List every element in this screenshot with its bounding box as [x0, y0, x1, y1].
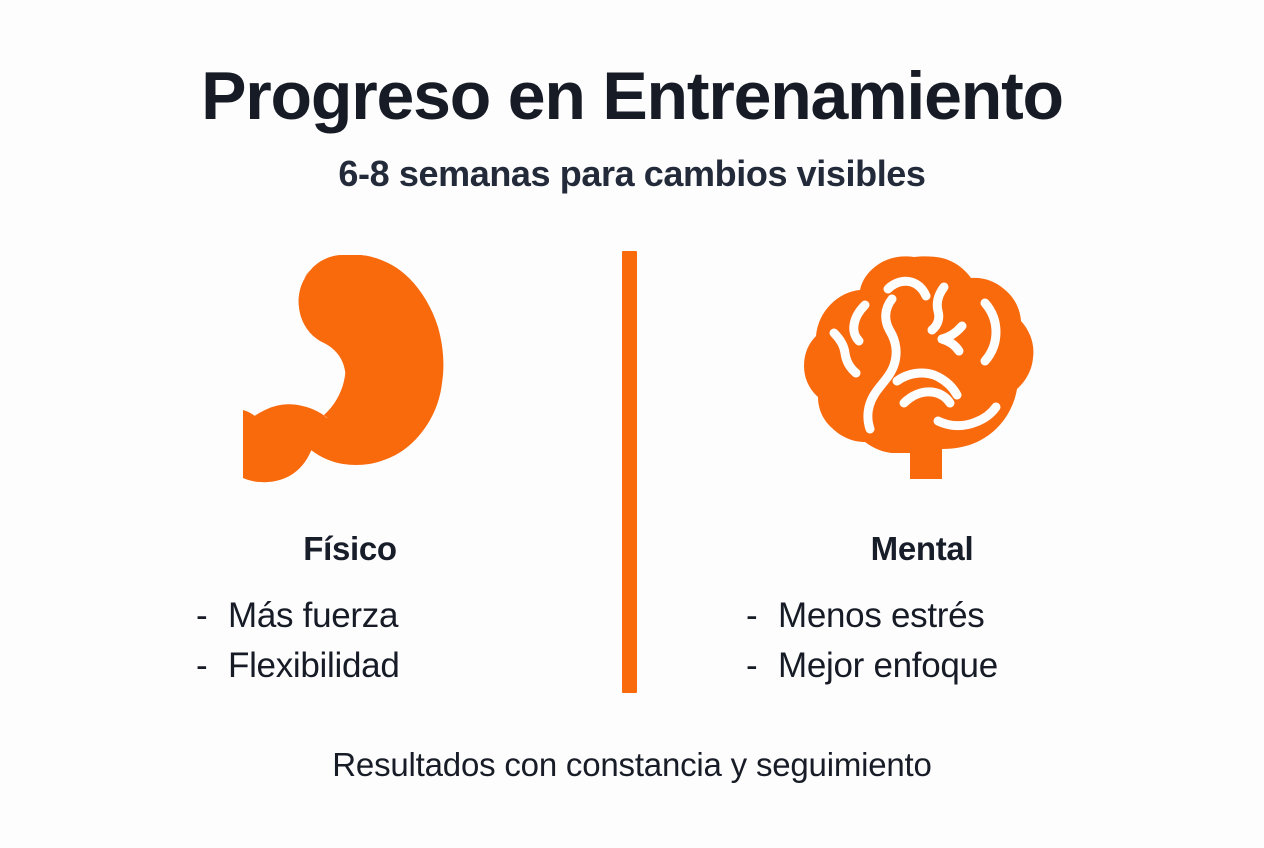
footer-caption: Resultados con constancia y seguimiento [0, 748, 1264, 781]
list-item-label: Menos estrés [778, 591, 985, 641]
list-item-label: Flexibilidad [228, 641, 400, 691]
page-subtitle: 6-8 semanas para cambios visibles [0, 156, 1264, 192]
infographic-canvas: Progreso en Entrenamiento 6-8 semanas pa… [0, 0, 1264, 848]
list-item: - Flexibilidad [196, 641, 610, 691]
column-mental: Mental - Menos estrés - Mejor enfoque [662, 248, 1182, 698]
list-item-label: Mejor enfoque [778, 641, 998, 691]
list-item-label: Más fuerza [228, 591, 398, 641]
column-fisico: Físico - Más fuerza - Flexibilidad [90, 248, 610, 698]
benefit-list-mental: - Menos estrés - Mejor enfoque [662, 591, 1182, 690]
bullet-dash: - [746, 641, 778, 691]
brain-icon [662, 248, 1182, 488]
bullet-dash: - [746, 591, 778, 641]
list-item: - Más fuerza [196, 591, 610, 641]
benefit-list-fisico: - Más fuerza - Flexibilidad [90, 591, 610, 690]
list-item: - Menos estrés [746, 591, 1182, 641]
footer: Resultados con constancia y seguimiento [0, 748, 1264, 781]
vertical-divider [622, 251, 637, 693]
column-heading-fisico: Físico [90, 532, 610, 565]
list-item: - Mejor enfoque [746, 641, 1182, 691]
bullet-dash: - [196, 591, 228, 641]
page-title: Progreso en Entrenamiento [0, 62, 1264, 130]
bullet-dash: - [196, 641, 228, 691]
flexed-biceps-icon [90, 248, 610, 488]
column-heading-mental: Mental [662, 532, 1182, 565]
header: Progreso en Entrenamiento 6-8 semanas pa… [0, 62, 1264, 192]
